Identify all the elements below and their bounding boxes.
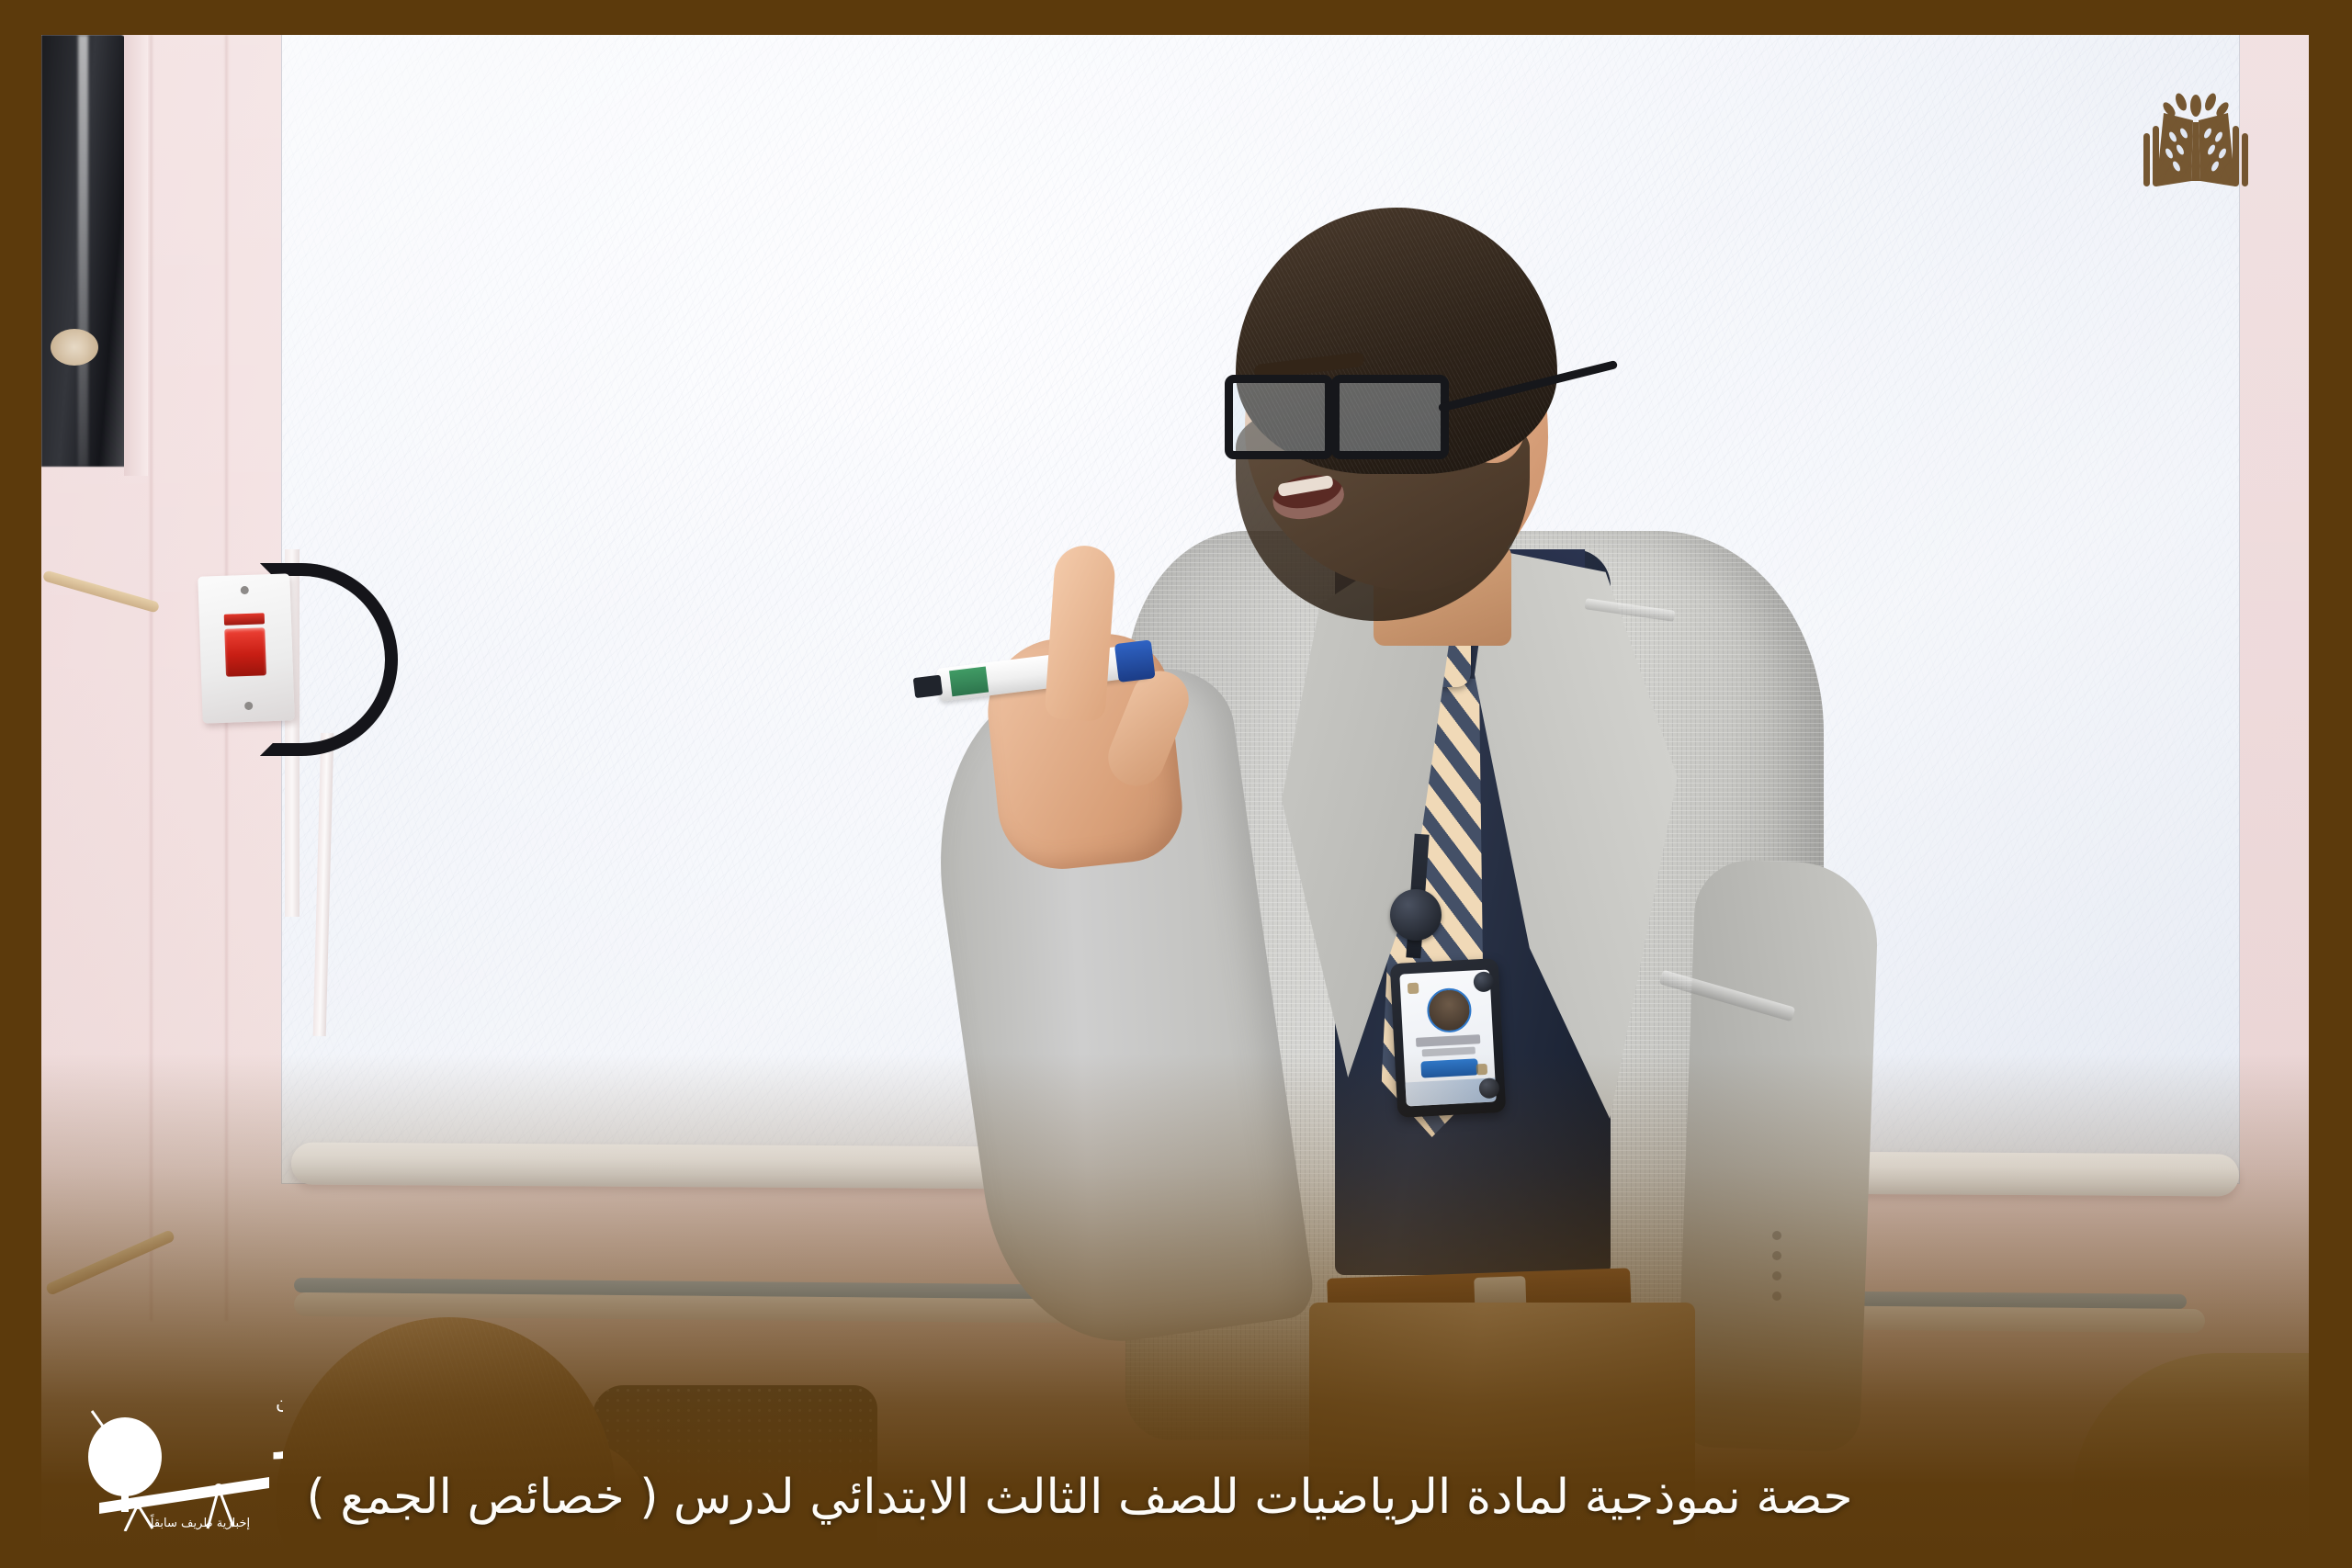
- badge-retractable-reel: [1390, 889, 1442, 941]
- photo-card-frame: الأخبار بيان إخبارية طريف سابقاً حصة نمو…: [0, 0, 2352, 1568]
- badge-holder-stud: [1473, 971, 1494, 992]
- marker-tip: [913, 675, 943, 698]
- photograph: [41, 35, 2309, 1568]
- badge-logo-icon: [1408, 983, 1419, 995]
- news-logo-prefix: بيان: [276, 1392, 283, 1414]
- photo-caption: حصة نموذجية لمادة الرياضيات للصف الثالث …: [0, 1468, 2352, 1528]
- eyeglass-lens-right: [1331, 375, 1449, 459]
- badge-name-text: [1416, 1034, 1480, 1047]
- marker-label-band: [949, 667, 989, 697]
- index-finger-raised: [1044, 544, 1116, 722]
- eyeglass-lens-left: [1225, 375, 1333, 459]
- badge-portrait-photo: [1426, 987, 1472, 1033]
- marker-cap: [1114, 639, 1156, 682]
- eyeglasses: [1225, 375, 1454, 463]
- open-book-tree-logo: [2127, 85, 2265, 191]
